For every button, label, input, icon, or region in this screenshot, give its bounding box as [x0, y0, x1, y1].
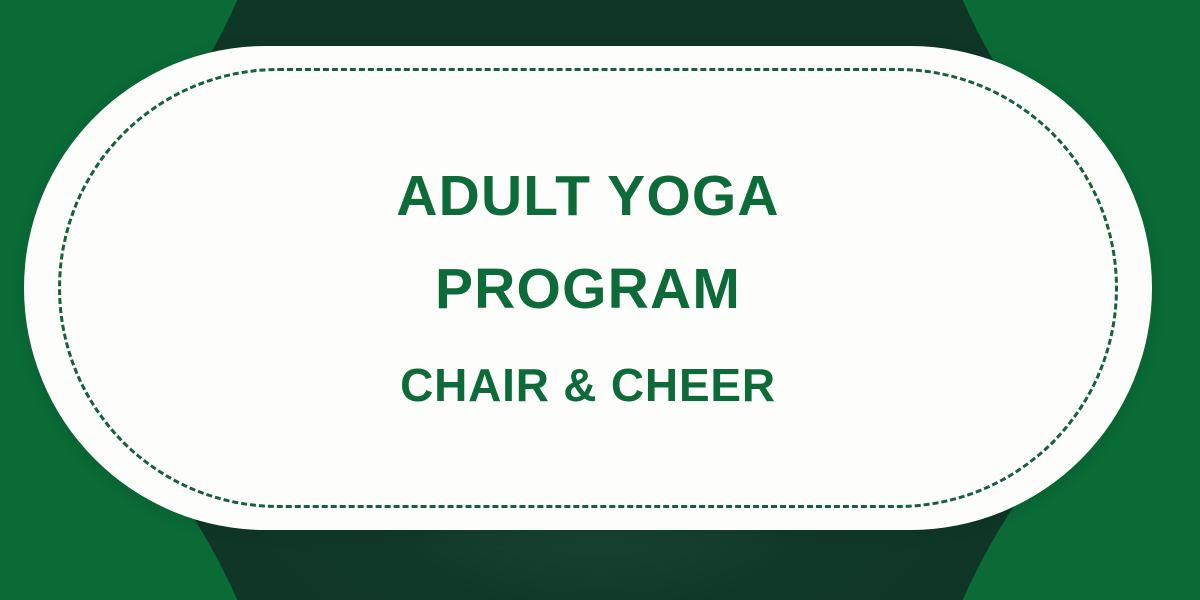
program-subtitle: CHAIR & CHEER	[400, 362, 776, 408]
card-content: ADULT YOGA PROGRAM CHAIR & CHEER	[24, 46, 1152, 530]
program-card: ADULT YOGA PROGRAM CHAIR & CHEER	[24, 46, 1152, 530]
program-title-line-1: ADULT YOGA	[396, 168, 780, 225]
yoga-program-banner: ADULT YOGA PROGRAM CHAIR & CHEER	[0, 0, 1200, 600]
program-title-line-2: PROGRAM	[435, 261, 741, 318]
